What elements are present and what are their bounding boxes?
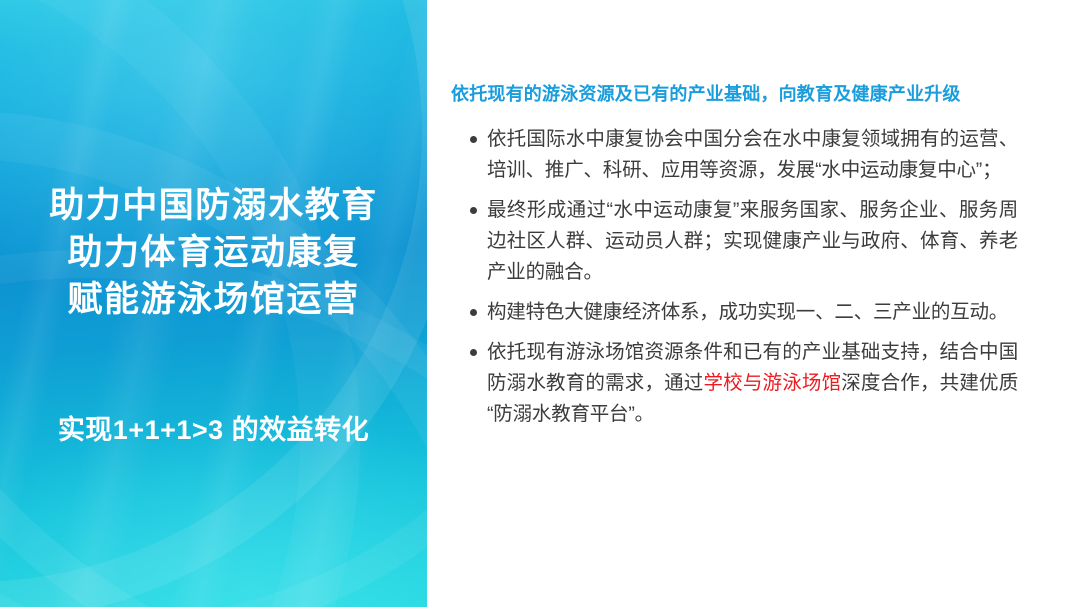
bullet-dot-icon [470,207,477,214]
bullet-text: 依托国际水中康复协会中国分会在水中康复领域拥有的运营、培训、推广、科研、应用等资… [487,128,1018,181]
bullet-item: 依托现有游泳场馆资源条件和已有的产业基础支持，结合中国防溺水教育的需求，通过学校… [470,337,1018,430]
headline-line-2: 助力体育运动康复 [0,229,427,276]
presentation-slide: 助力中国防溺水教育 助力体育运动康复 赋能游泳场馆运营 实现1+1+1>3 的效… [0,0,1080,607]
bullet-text: 构建特色大健康经济体系，成功实现一、二、三产业的互动。 [487,301,1008,323]
slide-headline: 助力中国防溺水教育 助力体育运动康复 赋能游泳场馆运营 [0,182,427,323]
bullet-dot-icon [470,136,477,143]
section-heading: 依托现有的游泳资源及已有的产业基础，向教育及健康产业升级 [451,80,1059,106]
slide-subheadline: 实现1+1+1>3 的效益转化 [0,408,427,447]
left-hero-panel: 助力中国防溺水教育 助力体育运动康复 赋能游泳场馆运营 实现1+1+1>3 的效… [0,0,427,607]
bullet-text-highlight: 学校与游泳场馆 [703,372,841,394]
headline-line-1: 助力中国防溺水教育 [0,182,427,229]
bullet-item: 构建特色大健康经济体系，成功实现一、二、三产业的互动。 [470,297,1018,328]
bullet-text: 最终形成通过“水中运动康复”来服务国家、服务企业、服务周边社区人群、运动员人群；… [487,199,1018,283]
bullet-item: 最终形成通过“水中运动康复”来服务国家、服务企业、服务周边社区人群、运动员人群；… [470,195,1018,288]
bullet-item: 依托国际水中康复协会中国分会在水中康复领域拥有的运营、培训、推广、科研、应用等资… [470,124,1018,186]
content-panel: 依托现有的游泳资源及已有的产业基础，向教育及健康产业升级 依托国际水中康复协会中… [427,0,1080,607]
bullet-dot-icon [470,349,477,356]
bullet-dot-icon [470,309,477,316]
headline-line-3: 赋能游泳场馆运营 [0,276,427,323]
bullet-list: 依托国际水中康复协会中国分会在水中康复领域拥有的运营、培训、推广、科研、应用等资… [470,124,1018,430]
